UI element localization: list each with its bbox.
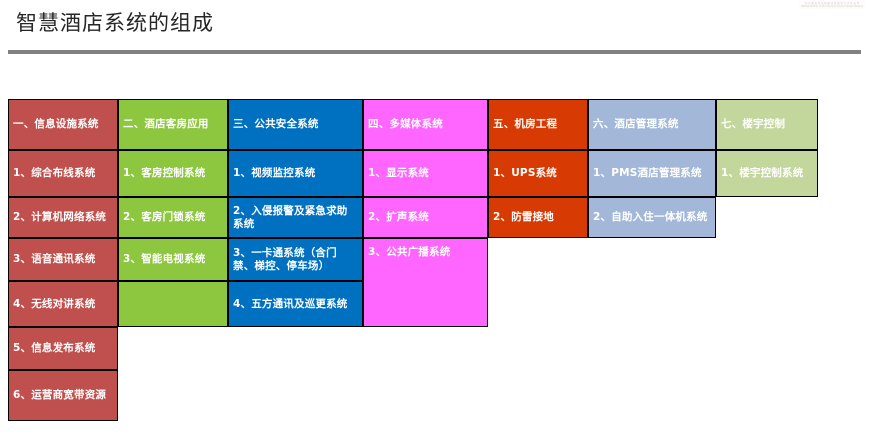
matrix-cell-1-4[interactable]: 4、无线对讲系统	[8, 281, 118, 327]
matrix-cell-1-6[interactable]: 6、运营商宽带资源	[8, 370, 118, 421]
slide-canvas: 北 京 奥 运 场 馆 智 能 化 系 统 官 方 合 作 伙 伴 Offici…	[0, 0, 869, 437]
matrix-column-7: 七、楼宇控制1、楼宇控制系统	[716, 99, 818, 421]
matrix-cell-4-3[interactable]: 3、公共广播系统	[363, 238, 488, 327]
matrix-cell-5-1[interactable]: 1、UPS系统	[488, 150, 588, 197]
matrix-cell-1-3[interactable]: 3、语音通讯系统	[8, 238, 118, 281]
matrix-cell-1-1[interactable]: 1、综合布线系统	[8, 150, 118, 197]
matrix-column-3: 三、公共安全系统1、视频监控系统2、入侵报警及紧急求助系统3、一卡通系统（含门禁…	[228, 99, 363, 421]
page-title: 智慧酒店系统的组成	[16, 8, 214, 38]
matrix-column-header-7[interactable]: 七、楼宇控制	[716, 99, 818, 150]
matrix-column-5: 五、机房工程1、UPS系统2、防雷接地	[488, 99, 588, 421]
matrix-cell-4-2[interactable]: 2、扩声系统	[363, 197, 488, 238]
matrix-cell-1-2[interactable]: 2、计算机网络系统	[8, 197, 118, 238]
matrix-cell-6-2[interactable]: 2、自助入住一体机系统	[588, 197, 716, 238]
matrix-column-header-2[interactable]: 二、酒店客房应用	[118, 99, 228, 150]
matrix-cell-6-1[interactable]: 1、PMS酒店管理系统	[588, 150, 716, 197]
matrix-cell-1-5[interactable]: 5、信息发布系统	[8, 327, 118, 370]
matrix-column-header-4[interactable]: 四、多媒体系统	[363, 99, 488, 150]
matrix-column-header-1[interactable]: 一、信息设施系统	[8, 99, 118, 150]
matrix-column-2: 二、酒店客房应用1、客房控制系统2、客房门锁系统3、智能电视系统	[118, 99, 228, 421]
matrix-cell-4-1[interactable]: 1、显示系统	[363, 150, 488, 197]
matrix-column-1: 一、信息设施系统1、综合布线系统2、计算机网络系统3、语音通讯系统4、无线对讲系…	[8, 99, 118, 421]
watermark-line-en: Official Partner of the Olympic Venues S…	[799, 5, 865, 8]
matrix-cell-3-4[interactable]: 4、五方通讯及巡更系统	[228, 281, 363, 327]
matrix-cell-3-3[interactable]: 3、一卡通系统（含门禁、梯控、停车场）	[228, 238, 363, 281]
matrix-cell-2-1[interactable]: 1、客房控制系统	[118, 150, 228, 197]
matrix-column-4: 四、多媒体系统1、显示系统2、扩声系统3、公共广播系统	[363, 99, 488, 421]
matrix-cell-7-1[interactable]: 1、楼宇控制系统	[716, 150, 818, 197]
matrix-cell-3-2[interactable]: 2、入侵报警及紧急求助系统	[228, 197, 363, 238]
matrix-column-header-6[interactable]: 六、酒店管理系统	[588, 99, 716, 150]
matrix-cell-2-3[interactable]: 3、智能电视系统	[118, 238, 228, 281]
matrix-column-header-3[interactable]: 三、公共安全系统	[228, 99, 363, 150]
matrix-cell-empty-2-4	[118, 281, 228, 327]
title-divider-rule	[8, 50, 861, 54]
system-composition-matrix: 一、信息设施系统1、综合布线系统2、计算机网络系统3、语音通讯系统4、无线对讲系…	[8, 99, 818, 421]
matrix-cell-3-1[interactable]: 1、视频监控系统	[228, 150, 363, 197]
olympic-partner-watermark: 北 京 奥 运 场 馆 智 能 化 系 统 官 方 合 作 伙 伴 Offici…	[799, 1, 865, 9]
matrix-column-header-5[interactable]: 五、机房工程	[488, 99, 588, 150]
matrix-cell-5-2[interactable]: 2、防雷接地	[488, 197, 588, 238]
matrix-cell-2-2[interactable]: 2、客房门锁系统	[118, 197, 228, 238]
matrix-column-6: 六、酒店管理系统1、PMS酒店管理系统2、自助入住一体机系统	[588, 99, 716, 421]
